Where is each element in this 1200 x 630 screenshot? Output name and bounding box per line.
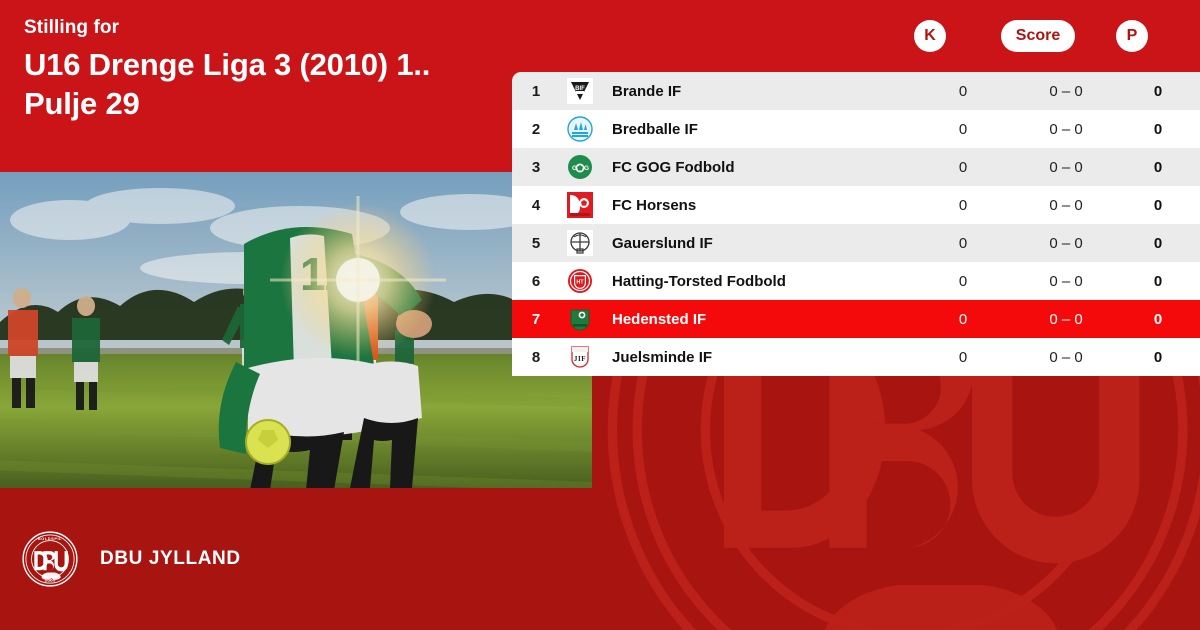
- bredballe-if-crest-icon: [560, 116, 600, 142]
- row-matches-played: 0: [910, 159, 1016, 176]
- row-goal-score: 0 – 0: [1016, 159, 1116, 176]
- row-goal-score: 0 – 0: [1016, 273, 1116, 290]
- row-team-name[interactable]: Juelsminde IF: [600, 349, 910, 366]
- row-team-name[interactable]: Brande IF: [600, 83, 910, 100]
- row-matches-played: 0: [910, 235, 1016, 252]
- gauerslund-if-crest-icon: [560, 230, 600, 256]
- table-row[interactable]: 6 HT Hatting-Torsted Fodbold00 – 00: [512, 262, 1200, 300]
- row-team-name[interactable]: Hedensted IF: [600, 311, 910, 328]
- row-position: 3: [512, 159, 560, 176]
- dbu-crest-icon: 1889 BOLDSPIL: [22, 531, 78, 587]
- table-row[interactable]: 2 Bredballe IF00 – 00: [512, 110, 1200, 148]
- row-matches-played: 0: [910, 311, 1016, 328]
- column-header-p[interactable]: P: [1116, 20, 1148, 52]
- svg-text:BOLDSPIL: BOLDSPIL: [38, 536, 62, 541]
- table-row[interactable]: 5 Gauerslund IF00 – 00: [512, 224, 1200, 262]
- table-row[interactable]: 7 Hedensted IF00 – 00: [512, 300, 1200, 338]
- fc-gog-crest-icon: G G: [560, 154, 600, 180]
- footer-org-name: DBU JYLLAND: [100, 548, 241, 570]
- brande-if-crest-icon: BIF: [560, 78, 600, 104]
- fc-horsens-crest-icon: [560, 192, 600, 218]
- row-matches-played: 0: [910, 349, 1016, 366]
- row-points: 0: [1116, 273, 1200, 290]
- standings-graphic: Stilling for U16 Drenge Liga 3 (2010) 1.…: [0, 0, 1200, 630]
- row-goal-score: 0 – 0: [1016, 349, 1116, 366]
- row-position: 4: [512, 197, 560, 214]
- title-kicker: Stilling for: [24, 16, 524, 41]
- table-row[interactable]: 4 FC Horsens00 – 00: [512, 186, 1200, 224]
- page-title: Stilling for U16 Drenge Liga 3 (2010) 1.…: [24, 16, 524, 124]
- table-row[interactable]: 1 BIF Brande IF00 – 00: [512, 72, 1200, 110]
- row-matches-played: 0: [910, 121, 1016, 138]
- table-row[interactable]: 3 G G FC GOG Fodbold00 – 00: [512, 148, 1200, 186]
- row-goal-score: 0 – 0: [1016, 235, 1116, 252]
- svg-text:1889: 1889: [44, 577, 55, 583]
- svg-text:G: G: [584, 165, 589, 172]
- table-row[interactable]: 8 JIF Juelsminde IF00 – 00: [512, 338, 1200, 376]
- title-main: U16 Drenge Liga 3 (2010) 1..Pulje 29: [24, 45, 524, 124]
- title-line-1: U16 Drenge Liga 3 (2010) 1..: [24, 45, 524, 85]
- row-team-name[interactable]: FC GOG Fodbold: [600, 159, 910, 176]
- row-goal-score: 0 – 0: [1016, 83, 1116, 100]
- row-goal-score: 0 – 0: [1016, 197, 1116, 214]
- row-goal-score: 0 – 0: [1016, 311, 1116, 328]
- row-points: 0: [1116, 83, 1200, 100]
- svg-text:HT: HT: [576, 280, 584, 286]
- row-team-name[interactable]: FC Horsens: [600, 197, 910, 214]
- row-points: 0: [1116, 235, 1200, 252]
- row-matches-played: 0: [910, 197, 1016, 214]
- standings-table: 1 BIF Brande IF00 – 002 Bredballe IF00 –…: [512, 72, 1200, 376]
- row-goal-score: 0 – 0: [1016, 121, 1116, 138]
- row-points: 0: [1116, 349, 1200, 366]
- row-points: 0: [1116, 311, 1200, 328]
- row-matches-played: 0: [910, 83, 1016, 100]
- row-matches-played: 0: [910, 273, 1016, 290]
- hero-photo: 11: [0, 172, 592, 488]
- column-header-k[interactable]: K: [914, 20, 946, 52]
- row-team-name[interactable]: Hatting-Torsted Fodbold: [600, 273, 910, 290]
- footer: 1889 BOLDSPIL DBU JYLLAND: [0, 488, 1200, 630]
- svg-text:G: G: [572, 165, 577, 172]
- row-position: 5: [512, 235, 560, 252]
- row-team-name[interactable]: Bredballe IF: [600, 121, 910, 138]
- row-position: 6: [512, 273, 560, 290]
- hatting-torsted-crest-icon: HT: [560, 268, 600, 294]
- svg-text:JIF: JIF: [574, 355, 586, 363]
- row-team-name[interactable]: Gauerslund IF: [600, 235, 910, 252]
- row-position: 7: [512, 311, 560, 328]
- row-position: 8: [512, 349, 560, 366]
- table-header: K Score P: [512, 0, 1200, 72]
- column-header-score[interactable]: Score: [1001, 20, 1075, 52]
- row-points: 0: [1116, 197, 1200, 214]
- row-points: 0: [1116, 121, 1200, 138]
- juelsminde-if-crest-icon: JIF: [560, 344, 600, 370]
- hedensted-if-crest-icon: [560, 306, 600, 332]
- title-line-2: Pulje 29: [24, 84, 524, 124]
- row-points: 0: [1116, 159, 1200, 176]
